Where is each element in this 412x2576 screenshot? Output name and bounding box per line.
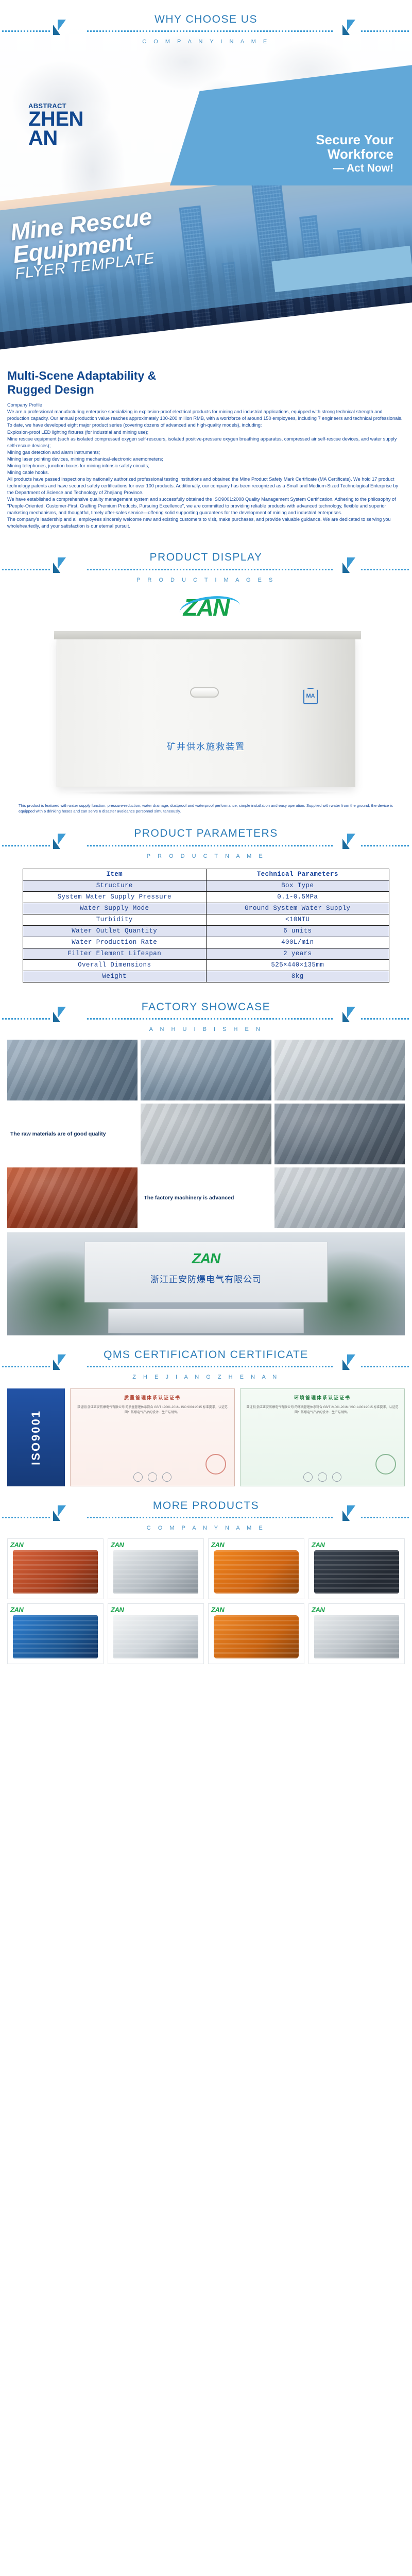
zan-logo-text: ZAN [312, 1541, 324, 1549]
profile-paragraph: All products have passed inspections by … [7, 476, 405, 496]
dotted-segment-left [2, 845, 51, 846]
office-reception-photo: ZAN 浙江正安防爆电气有限公司 [7, 1232, 405, 1335]
dotted-segment-left [2, 1366, 51, 1367]
abstract-block: ABSTRACT ZHEN AN [28, 102, 83, 148]
cell-value: Ground System Water Supply [206, 903, 389, 914]
profile-paragraph: Mining telephones, junction boxes for mi… [7, 463, 405, 469]
callout-line-3: — Act Now! [316, 162, 393, 174]
section-title: PRODUCT DISPLAY [0, 551, 412, 564]
company-profile-section: Multi-Scene Adaptability & Rugged Design… [0, 366, 412, 538]
office-logo-text: ZAN [85, 1250, 327, 1267]
accreditation-logo-icon [148, 1472, 157, 1482]
product-card-blue-control-box[interactable]: ZAN [7, 1603, 104, 1664]
product-shadow [67, 790, 345, 795]
section-title: QMS CERTIFICATION CERTIFICATE [0, 1349, 412, 1361]
profile-label: Company Profile [7, 402, 405, 409]
triangle-dark-icon [342, 563, 350, 573]
product-card-orange-rescue-device[interactable]: ZAN [208, 1603, 304, 1664]
product-thumbnail [214, 1550, 299, 1594]
dotted-segment-left [2, 1018, 51, 1020]
certificate-body: 兹证明 浙江正安防爆电气有限公司 的环境管理体系符合 GB/T 24001-20… [245, 1405, 400, 1415]
dotted-segment-center [87, 1366, 334, 1367]
cell-item: Water Supply Mode [23, 903, 207, 914]
dotted-rule [0, 1517, 412, 1518]
triangle-dark-icon [342, 1511, 350, 1521]
section-header-more-products: MORE PRODUCTS C O M P A N Y N A M E [0, 1486, 412, 1533]
product-card-self-rescuer-bag[interactable]: ZAN [208, 1538, 304, 1599]
product-thumbnail [314, 1615, 399, 1658]
section-subtitle: A N H U I B I S H E N [0, 1026, 412, 1032]
section-divider [0, 26, 412, 36]
profile-paragraph: We are a professional manufacturing ente… [7, 409, 405, 422]
official-seal-icon [205, 1454, 226, 1475]
factory-photo-injection-machine [141, 1040, 271, 1100]
section-divider [0, 1513, 412, 1522]
cell-item: Turbidity [23, 914, 207, 925]
factory-caption-machinery: The factory machinery is advanced [141, 1167, 271, 1228]
product-thumbnail [13, 1550, 98, 1594]
cell-item: Water Production Rate [23, 937, 207, 948]
triangle-dark-icon [342, 25, 350, 35]
dotted-segment-right [361, 1517, 410, 1518]
certificate-body: 兹证明 浙江正安防爆电气有限公司 的质量管理体系符合 GB/T 19001-20… [75, 1405, 230, 1415]
parameters-table: Item Technical Parameters Structure Box … [23, 869, 389, 982]
profile-heading-line-2: Rugged Design [7, 383, 94, 396]
cell-item: Water Outlet Quantity [23, 925, 207, 937]
column-header-parameters: Technical Parameters [206, 869, 389, 880]
profile-heading: Multi-Scene Adaptability & Rugged Design [7, 369, 405, 397]
dotted-segment-center [87, 30, 334, 32]
cell-value: 2 years [206, 948, 389, 959]
zan-logo-text: ZAN [111, 1606, 124, 1614]
column-header-item: Item [23, 869, 207, 880]
product-card-mining-headlamp[interactable]: ZAN [308, 1538, 405, 1599]
dotted-segment-center [87, 569, 334, 570]
zan-logo-text: ZAN [211, 1541, 224, 1549]
dotted-rule [0, 845, 412, 846]
dotted-rule [0, 1366, 412, 1367]
accreditation-logo-icon [303, 1472, 313, 1482]
factory-photo-molding-machine [7, 1040, 138, 1100]
product-photo: MA 矿井供水施救装置 [26, 628, 386, 798]
cell-item: System Water Supply Pressure [23, 891, 207, 903]
cabinet-handle-icon [190, 687, 219, 698]
zan-logo-text: ZAN [111, 1541, 124, 1549]
product-thumbnail [13, 1615, 98, 1658]
cell-value: Box Type [206, 880, 389, 891]
triangle-dark-icon [53, 1012, 60, 1022]
section-subtitle: Z H E J I A N G Z H E N A N [0, 1374, 412, 1380]
cell-value: 6 units [206, 925, 389, 937]
section-header-certification: QMS CERTIFICATION CERTIFICATE Z H E J I … [0, 1335, 412, 1382]
iso-badge: ISO9001 [7, 1388, 65, 1486]
callout-line-1: Secure Your [316, 133, 393, 147]
section-title: MORE PRODUCTS [0, 1500, 412, 1512]
section-divider [0, 1362, 412, 1371]
product-thumbnail [113, 1615, 198, 1658]
factory-photo-metal-press [141, 1104, 271, 1164]
product-card-explosion-proof-cabinet[interactable]: ZAN [108, 1538, 204, 1599]
factory-photo-assembly-line [274, 1167, 405, 1228]
hero-banner: WHY CHOOSE US C O M P A N Y I N [0, 0, 412, 366]
product-thumbnail [214, 1615, 299, 1658]
profile-paragraph: The company's leadership and all employe… [7, 516, 405, 530]
product-cabinet: MA 矿井供水施救装置 [57, 638, 355, 787]
profile-body: We are a professional manufacturing ente… [7, 409, 405, 530]
certificate-row: ISO9001 质量管理体系认证证书 兹证明 浙江正安防爆电气有限公司 的质量管… [7, 1388, 405, 1486]
product-label-cn: 矿井供水施救装置 [57, 739, 355, 752]
triangle-dark-icon [53, 1360, 60, 1370]
dotted-segment-right [361, 30, 410, 32]
callout-line-2: Workforce [316, 147, 393, 161]
product-card-white-distribution-box[interactable]: ZAN [108, 1603, 204, 1664]
section-subtitle: P R O D U C T I M A G E S [0, 577, 412, 583]
product-card-equipment-rack[interactable]: ZAN [308, 1603, 405, 1664]
profile-paragraph: Mining laser pointing devices, mining me… [7, 456, 405, 463]
accreditation-logo-icon [162, 1472, 171, 1482]
section-divider [0, 841, 412, 850]
section-subtitle: C O M P A N Y N A M E [0, 1525, 412, 1531]
cell-item: Filter Element Lifespan [23, 948, 207, 959]
hero-callout: Secure Your Workforce — Act Now! [316, 133, 393, 174]
ma-mark-icon: MA [303, 688, 318, 704]
zan-logo-text: ZAN [10, 1606, 23, 1614]
triangle-dark-icon [342, 839, 350, 849]
reception-desk [108, 1309, 304, 1333]
dotted-segment-center [87, 1018, 334, 1020]
factory-photo-grid: The raw materials are of good quality Th… [7, 1040, 405, 1228]
table-row: Water Outlet Quantity 6 units [23, 925, 389, 937]
factory-photo-cnc-machine [274, 1040, 405, 1100]
profile-paragraph: Explosion-proof LED lighting fixtures (f… [7, 429, 405, 436]
dotted-segment-left [2, 1517, 51, 1518]
certificate-environmental-management: 环境管理体系认证证书 兹证明 浙江正安防爆电气有限公司 的环境管理体系符合 GB… [240, 1388, 405, 1486]
dotted-segment-right [361, 845, 410, 846]
accreditation-logo-icon [332, 1472, 341, 1482]
dotted-segment-left [2, 30, 51, 32]
product-caption: This product is featured with water supp… [11, 803, 401, 815]
section-subtitle: C O M P A N Y I N A M E [0, 39, 412, 45]
accreditation-logo-icon [133, 1472, 143, 1482]
abstract-line-1: ZHEN [28, 110, 83, 129]
section-subtitle: P R O D U C T N A M E [0, 853, 412, 859]
dotted-rule [0, 30, 412, 32]
triangle-dark-icon [53, 839, 60, 849]
table-header-row: Item Technical Parameters [23, 869, 389, 880]
zan-logo-text: ZAN [211, 1606, 224, 1614]
section-title: WHY CHOOSE US [0, 13, 412, 26]
table-row: Filter Element Lifespan 2 years [23, 948, 389, 959]
table-row: Turbidity <10NTU [23, 914, 389, 925]
cell-value: 0.1-0.5MPa [206, 891, 389, 903]
dotted-segment-right [361, 1366, 410, 1367]
table-row: Weight 8kg [23, 971, 389, 982]
abstract-line-2: AN [28, 129, 83, 148]
office-company-name-cn: 浙江正安防爆电气有限公司 [85, 1272, 327, 1285]
hero-section-header: WHY CHOOSE US C O M P A N Y I N [0, 0, 412, 47]
table-row: Overall Dimensions 525×440×135mm [23, 959, 389, 971]
factory-photo-control-panel [274, 1104, 405, 1164]
cabinet-top-edge [54, 631, 361, 639]
dotted-segment-right [361, 1018, 410, 1020]
more-products-grid: ZAN ZAN ZAN ZAN ZAN ZAN ZAN ZAN [7, 1538, 405, 1664]
accreditation-logo-icon [318, 1472, 327, 1482]
product-thumbnail [314, 1550, 399, 1594]
triangle-dark-icon [53, 1511, 60, 1521]
cell-item: Overall Dimensions [23, 959, 207, 971]
dotted-segment-left [2, 569, 51, 570]
product-thumbnail [113, 1550, 198, 1594]
triangle-dark-icon [342, 1360, 350, 1370]
dotted-segment-right [361, 569, 410, 570]
section-title: FACTORY SHOWCASE [0, 1001, 412, 1013]
table-row: Water Production Rate 400L/min [23, 937, 389, 948]
cell-item: Weight [23, 971, 207, 982]
cell-value: <10NTU [206, 914, 389, 925]
official-seal-icon [375, 1454, 396, 1475]
certificate-title: 质量管理体系认证证书 [75, 1394, 230, 1401]
product-card-explosion-proof-generator[interactable]: ZAN [7, 1538, 104, 1599]
section-divider [0, 565, 412, 574]
accreditation-logos [241, 1472, 404, 1482]
accreditation-logos [71, 1472, 234, 1482]
table-row: Structure Box Type [23, 880, 389, 891]
profile-paragraph: Mining gas detection and alarm instrumen… [7, 449, 405, 456]
office-wall: ZAN 浙江正安防爆电气有限公司 [84, 1242, 328, 1302]
section-header-factory-showcase: FACTORY SHOWCASE A N H U I B I S H E N [0, 988, 412, 1035]
profile-paragraph: We have established a comprehensive qual… [7, 496, 405, 516]
zan-logo-text: ZAN [10, 1541, 23, 1549]
cell-value: 8kg [206, 971, 389, 982]
triangle-dark-icon [53, 563, 60, 573]
table-row: System Water Supply Pressure 0.1-0.5MPa [23, 891, 389, 903]
triangle-dark-icon [342, 1012, 350, 1022]
section-divider [0, 1014, 412, 1023]
section-header-product-parameters: PRODUCT PARAMETERS P R O D U C T N A M E [0, 814, 412, 861]
factory-photo-wiring-panel [7, 1167, 138, 1228]
iso-badge-text: ISO9001 [29, 1410, 43, 1465]
dotted-segment-center [87, 1517, 334, 1518]
profile-heading-line-1: Multi-Scene Adaptability & [7, 369, 156, 382]
dotted-rule [0, 569, 412, 570]
profile-paragraph: Mine rescue equipment (such as isolated … [7, 436, 405, 449]
section-header-product-display: PRODUCT DISPLAY P R O D U C T I M A G E … [0, 538, 412, 585]
section-header-why-choose-us: WHY CHOOSE US C O M P A N Y I N [0, 0, 412, 47]
zan-logo: ZAN [0, 585, 412, 624]
profile-paragraph: To date, we have developed eight major p… [7, 422, 405, 429]
section-title: PRODUCT PARAMETERS [0, 827, 412, 840]
zan-logo-text: ZAN [312, 1606, 324, 1614]
cell-value: 525×440×135mm [206, 959, 389, 971]
cell-value: 400L/min [206, 937, 389, 948]
factory-caption-materials: The raw materials are of good quality [7, 1104, 138, 1164]
profile-paragraph: Mining cable hooks. [7, 469, 405, 476]
certificate-quality-management: 质量管理体系认证证书 兹证明 浙江正安防爆电气有限公司 的质量管理体系符合 GB… [70, 1388, 235, 1486]
triangle-dark-icon [53, 25, 60, 35]
dotted-rule [0, 1018, 412, 1020]
dotted-segment-center [87, 845, 334, 846]
certificate-title: 环境管理体系认证证书 [245, 1394, 400, 1401]
table-row: Water Supply Mode Ground System Water Su… [23, 903, 389, 914]
cell-item: Structure [23, 880, 207, 891]
